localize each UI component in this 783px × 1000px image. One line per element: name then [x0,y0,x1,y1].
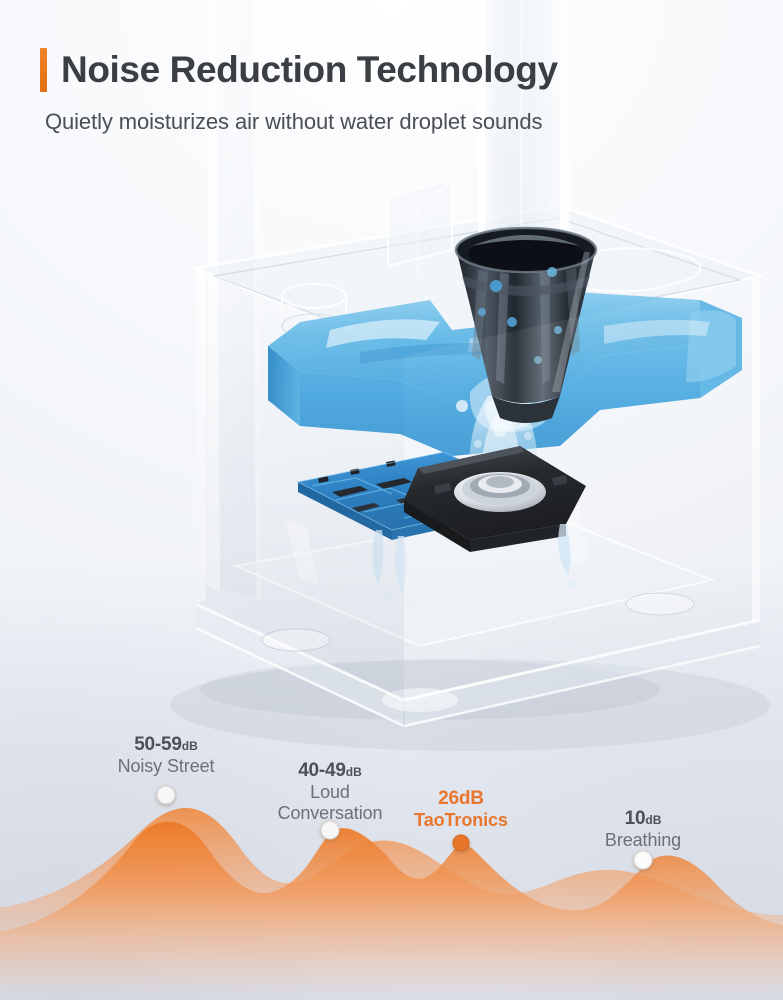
product-feature-banner: Noise Reduction Technology Quietly moist… [0,0,783,1000]
chart-label-breathing: 10dB Breathing [573,808,713,852]
chart-value-breathing: 10dB [573,808,713,830]
chart-label-loud-conversation: 40-49dB LoudConversation [250,760,410,823]
page-subtitle: Quietly moisturizes air without water dr… [45,109,740,135]
chart-source-breathing: Breathing [573,830,713,851]
chart-label-noisy-street: 50-59dB Noisy Street [86,734,246,778]
chart-labels: 50-59dB Noisy Street 40-49dB LoudConvers… [0,720,783,1000]
page-title: Noise Reduction Technology [61,51,558,90]
chart-value-loud-conversation: 40-49dB [250,760,410,782]
chart-source-taotronics: TaoTronics [391,810,531,831]
title-row: Noise Reduction Technology [40,48,740,92]
header: Noise Reduction Technology Quietly moist… [40,48,740,135]
noise-level-chart: 50-59dB Noisy Street 40-49dB LoudConvers… [0,720,783,1000]
chart-source-loud-conversation: LoudConversation [250,782,410,822]
accent-bar [40,48,47,92]
chart-value-taotronics: 26dB [391,788,531,810]
chart-source-noisy-street: Noisy Street [86,756,246,777]
chart-value-noisy-street: 50-59dB [86,734,246,756]
chart-label-taotronics: 26dB TaoTronics [391,788,531,832]
